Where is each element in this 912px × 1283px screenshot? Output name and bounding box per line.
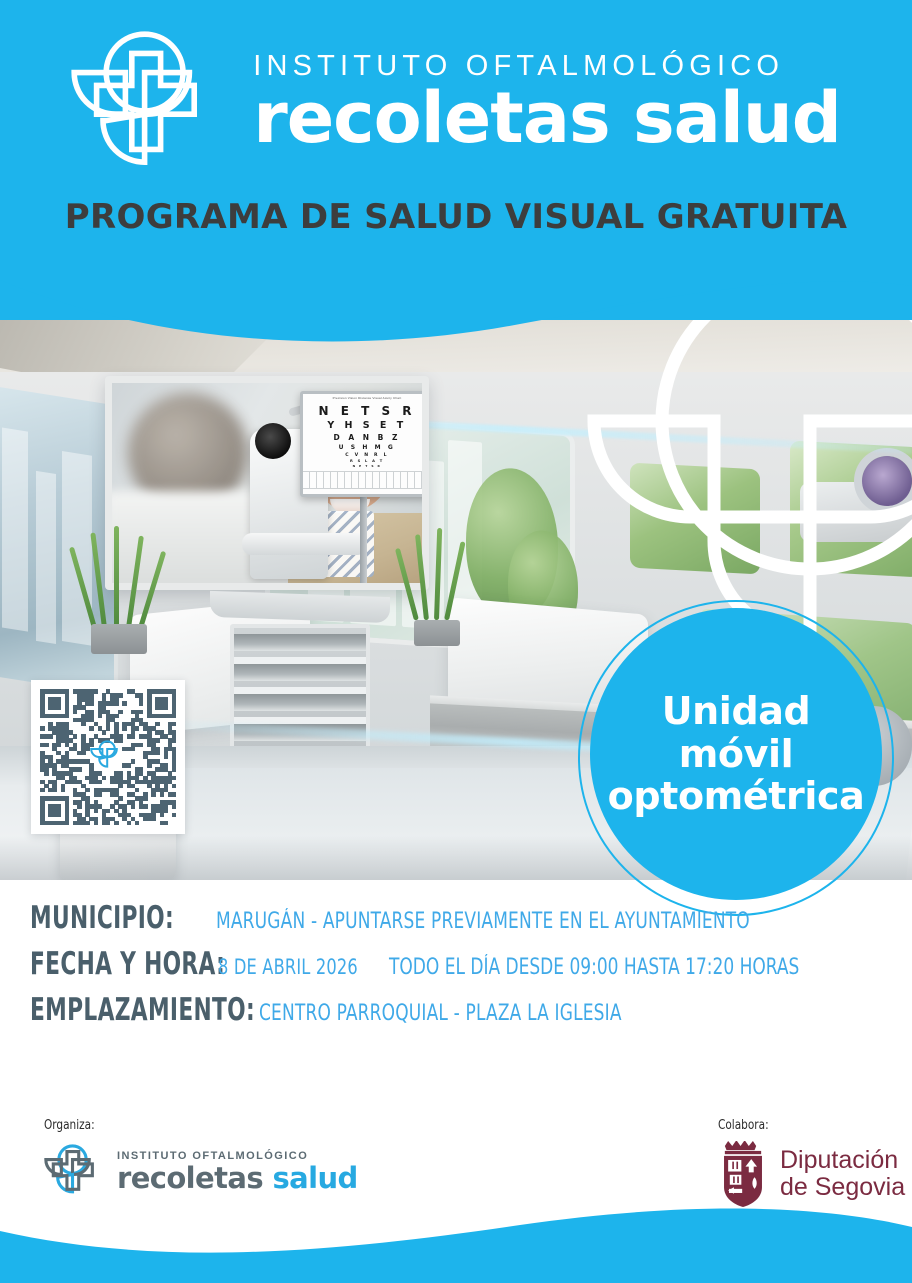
detail-value: MARUGÁN - APUNTARSE PREVIAMENTE EN EL AY… — [216, 909, 750, 935]
organiza-caption: Organiza: — [44, 1118, 326, 1133]
colabora-logo-text: Diputación de Segovia — [780, 1147, 905, 1202]
eye-chart-row: U S H M G — [303, 444, 429, 451]
photo-plant-right — [410, 536, 464, 646]
detail-value-date: 8 DE ABRIL 2026 — [218, 955, 358, 980]
recoletas-cross-icon — [44, 1141, 106, 1203]
footer-wave — [0, 1201, 912, 1283]
detail-value-time: TODO EL DÍA DESDE 09:00 HASTA 17:20 HORA… — [389, 955, 799, 980]
organiza-logo-line-2: recoletas salud — [117, 1164, 358, 1193]
detail-label: FECHA Y HORA: — [30, 946, 225, 983]
eye-chart-row: N E T S R — [303, 404, 429, 418]
recoletas-cross-icon — [88, 737, 128, 777]
header-bottom-wave — [0, 276, 912, 350]
eye-chart-header: Precision Vision Distance Visual Acuity … — [303, 394, 429, 401]
photo-equipment-lens — [862, 456, 912, 506]
detail-row-municipio: MUNICIPIO: MARUGÁN - APUNTARSE PREVIAMEN… — [0, 900, 912, 937]
segovia-shield-crown-icon — [718, 1141, 768, 1207]
organiza-block: Organiza: INSTITUTO OFTALMOLÓGICO recole… — [44, 1118, 358, 1203]
detail-label: MUNICIPIO: — [30, 900, 180, 937]
organiza-logo: INSTITUTO OFTALMOLÓGICO recoletas salud — [44, 1141, 358, 1203]
brand-lockup: INSTITUTO OFTALMOLÓGICO recoletas salud — [0, 18, 912, 188]
detail-row-emplazamiento: EMPLAZAMIENTO: CENTRO PARROQUIAL - PLAZA… — [0, 992, 912, 1029]
poster-root: Precision Vision Distance Visual Acuity … — [0, 0, 912, 1283]
eye-chart-row: Y H S E T — [303, 420, 429, 431]
colabora-logo: Diputación de Segovia — [718, 1141, 905, 1207]
event-details: MUNICIPIO: MARUGÁN - APUNTARSE PREVIAMEN… — [0, 900, 912, 1039]
organiza-logo-salud: salud — [273, 1161, 358, 1195]
organiza-logo-recoletas: recoletas — [117, 1161, 263, 1195]
cross-circles-logo-icon — [71, 23, 231, 183]
colabora-logo-line-1: Diputación — [780, 1147, 905, 1175]
colabora-caption: Colabora: — [718, 1118, 886, 1133]
eye-chart-row: N E T S R — [303, 464, 429, 468]
colabora-logo-line-2: de Segovia — [780, 1174, 905, 1202]
photo-plant-left — [88, 534, 150, 654]
photo-window-right-1 — [630, 463, 760, 575]
footer: Organiza: INSTITUTO OFTALMOLÓGICO recole… — [0, 1118, 912, 1283]
page-title: PROGRAMA DE SALUD VISUAL GRATUITA — [0, 197, 912, 237]
eye-chart: Precision Vision Distance Visual Acuity … — [300, 391, 429, 497]
eye-chart-row: R S L A T — [303, 459, 429, 463]
unidad-movil-badge: Unidad móvil optométrica — [590, 608, 882, 900]
eye-chart-row: D A N B Z — [303, 433, 429, 442]
badge-label: Unidad móvil optométrica — [590, 690, 882, 818]
detail-label: EMPLAZAMIENTO: — [30, 992, 244, 1029]
detail-row-fecha: FECHA Y HORA: 8 DE ABRIL 2026 TODO EL DÍ… — [0, 946, 912, 983]
detail-value: CENTRO PARROQUIAL - PLAZA LA IGLESIA — [259, 1001, 622, 1027]
brand-line-2: recoletas salud — [253, 83, 841, 154]
qr-code[interactable] — [31, 680, 185, 834]
photo-exam-scene-frame: Precision Vision Distance Visual Acuity … — [105, 376, 429, 590]
eye-chart-row: C V N R L — [303, 453, 429, 458]
colabora-block: Colabora: — [718, 1118, 905, 1207]
